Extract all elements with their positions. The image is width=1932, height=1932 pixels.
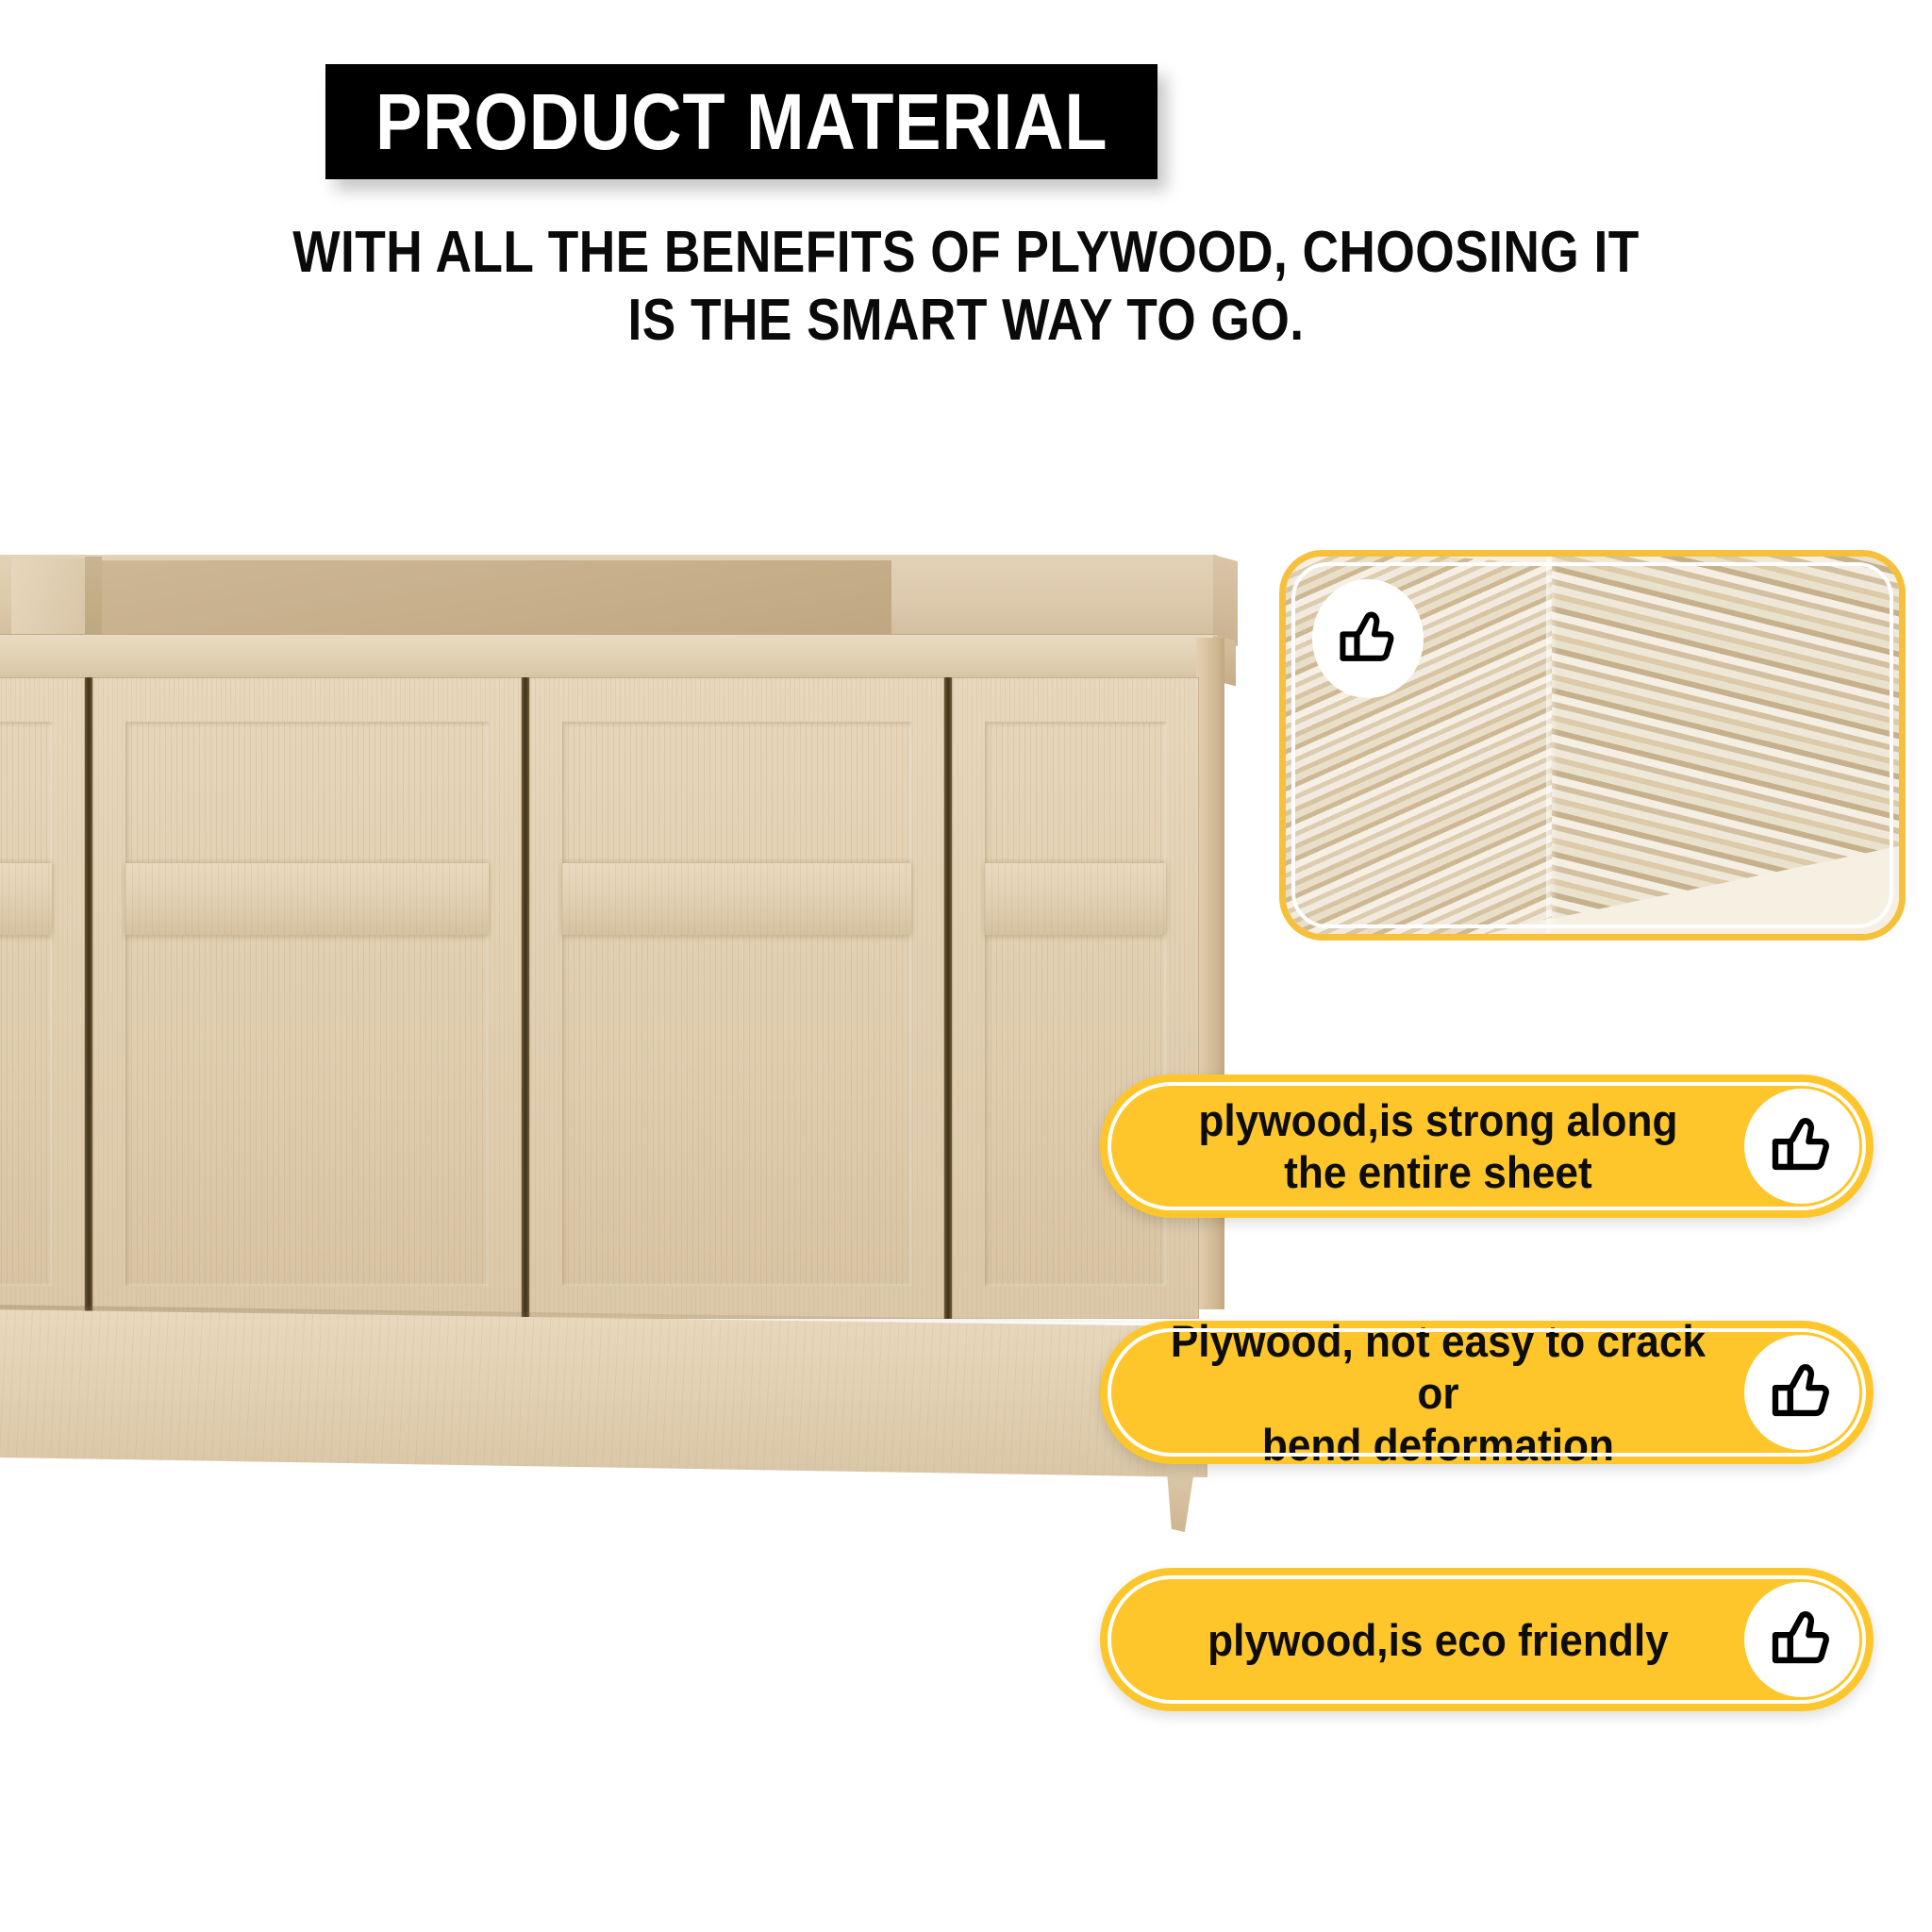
thumbs-up-icon	[1765, 1109, 1839, 1183]
feature-pill-text: plywood,is strong along the entire sheet	[1119, 1094, 1724, 1198]
page-subtitle: WITH ALL THE BENEFITS OF PLYWOOD, CHOOSI…	[0, 219, 1932, 355]
feature-pill-line: plywood,is strong along	[1160, 1094, 1716, 1146]
thumbs-up-badge	[1744, 1335, 1859, 1450]
cabinet-door-panel	[0, 722, 52, 1286]
thumbs-up-badge	[1312, 579, 1424, 698]
page-subtitle-line-2: IS THE SMART WAY TO GO.	[135, 287, 1796, 355]
cabinet-door-rail	[0, 863, 52, 935]
cabinet-door-rail	[985, 863, 1166, 935]
cabinet-door-group	[0, 677, 1217, 1319]
feature-pill-line: plywood,is eco friendly	[1160, 1614, 1716, 1666]
plywood-detail-panel	[1279, 550, 1906, 941]
feature-pill-line: bend deformation	[1160, 1419, 1716, 1471]
cabinet-door-panel	[562, 722, 911, 1286]
page-title-banner: PRODUCT MATERIAL	[325, 64, 1158, 179]
cabinet-interior-left-wall	[11, 558, 96, 636]
cabinet-door	[0, 677, 85, 1319]
cabinet-door	[529, 677, 944, 1319]
cabinet-door-rail	[562, 863, 911, 935]
cabinet-door	[952, 677, 1199, 1319]
feature-pill-line: the entire sheet	[1160, 1146, 1716, 1198]
feature-pill-text: plywood,is eco friendly	[1119, 1614, 1724, 1666]
cabinet-door	[92, 677, 522, 1319]
plywood-corner-edge	[1546, 550, 1557, 938]
thumbs-up-badge	[1744, 1582, 1859, 1697]
cabinet-interior-divider	[85, 557, 102, 636]
cabinet-door-rail	[125, 863, 489, 935]
thumbs-up-icon	[1765, 1603, 1839, 1676]
thumbs-up-icon	[1765, 1356, 1839, 1429]
cabinet-top-rail	[0, 634, 1217, 679]
cabinet-door-panel	[125, 722, 489, 1286]
feature-pill-text: Plywood, not easy to crack or bend defor…	[1119, 1315, 1724, 1471]
thumbs-up-icon	[1333, 604, 1403, 674]
feature-pill: plywood,is eco friendly	[1100, 1568, 1874, 1711]
feature-pill-line: Plywood, not easy to crack or	[1160, 1315, 1716, 1419]
product-cabinet-photo	[0, 555, 1241, 1809]
page-subtitle-line-1: WITH ALL THE BENEFITS OF PLYWOOD, CHOOSI…	[135, 219, 1796, 287]
cabinet-base-plinth	[0, 1309, 1207, 1477]
feature-pill: plywood,is strong along the entire sheet	[1100, 1074, 1874, 1218]
thumbs-up-badge	[1744, 1089, 1859, 1204]
cabinet-interior	[80, 560, 891, 634]
page-title: PRODUCT MATERIAL	[375, 82, 1108, 161]
feature-pill: Plywood, not easy to crack or bend defor…	[1100, 1321, 1874, 1464]
